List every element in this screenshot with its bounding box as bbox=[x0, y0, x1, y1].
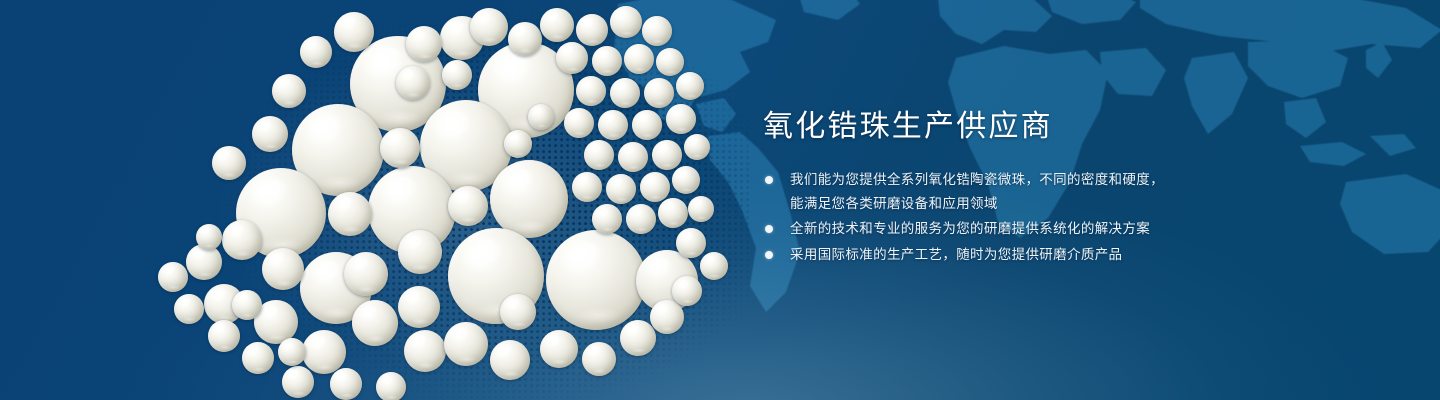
bead bbox=[528, 104, 554, 130]
zirconia-bead-cluster-image bbox=[0, 0, 760, 400]
bead bbox=[500, 294, 536, 330]
bead bbox=[330, 368, 362, 400]
bead bbox=[672, 276, 702, 306]
bead bbox=[300, 36, 332, 68]
bead bbox=[398, 230, 442, 274]
bead bbox=[598, 110, 628, 140]
bead bbox=[242, 342, 274, 374]
bead bbox=[490, 160, 568, 238]
bead bbox=[490, 340, 530, 380]
bead bbox=[334, 12, 374, 52]
bead bbox=[398, 286, 440, 328]
bead bbox=[252, 116, 288, 152]
bead bbox=[576, 14, 608, 46]
bead bbox=[656, 48, 684, 76]
page-title: 氧化锆珠生产供应商 bbox=[763, 108, 1233, 146]
list-item-line: 我们能为您提供全系列氧化锆陶瓷微珠，不同的密度和硬度， bbox=[790, 168, 1233, 192]
bead bbox=[684, 134, 710, 160]
bead bbox=[624, 44, 654, 74]
bead bbox=[582, 342, 616, 376]
bead bbox=[302, 330, 346, 374]
bead bbox=[186, 244, 222, 280]
bead bbox=[700, 252, 728, 280]
banner-content: 氧化锆珠生产供应商 我们能为您提供全系列氧化锆陶瓷微珠，不同的密度和硬度， 能满… bbox=[763, 108, 1233, 268]
bead bbox=[576, 76, 606, 106]
list-item-line: 能满足您各类研磨设备和应用领域 bbox=[790, 192, 1233, 216]
bead bbox=[584, 140, 614, 170]
bead bbox=[676, 228, 706, 258]
bead bbox=[508, 22, 542, 56]
bead bbox=[404, 330, 446, 372]
bead bbox=[344, 252, 388, 296]
bead bbox=[272, 74, 306, 108]
bead bbox=[564, 108, 594, 138]
bead bbox=[610, 78, 640, 108]
bead bbox=[222, 220, 262, 260]
bead bbox=[632, 110, 662, 140]
feature-list: 我们能为您提供全系列氧化锆陶瓷微珠，不同的密度和硬度， 能满足您各类研磨设备和应… bbox=[763, 168, 1233, 266]
bead bbox=[626, 204, 656, 234]
bead bbox=[158, 262, 188, 292]
bead bbox=[666, 104, 696, 134]
bead bbox=[618, 142, 648, 172]
bead bbox=[376, 372, 406, 400]
bead bbox=[592, 46, 622, 76]
bead bbox=[672, 166, 700, 194]
bead bbox=[676, 72, 704, 100]
bead bbox=[174, 294, 204, 324]
bead bbox=[470, 8, 508, 46]
bead bbox=[652, 140, 682, 170]
bead bbox=[212, 146, 246, 180]
list-item: 采用国际标准的生产工艺，随时为您提供研磨介质产品 bbox=[763, 243, 1233, 267]
list-item: 全新的技术和专业的服务为您的研磨提供系统化的解决方案 bbox=[763, 217, 1233, 241]
bullet-dot-icon bbox=[765, 225, 773, 233]
bead bbox=[442, 60, 472, 90]
bead bbox=[610, 6, 642, 38]
bead bbox=[380, 128, 420, 168]
bead bbox=[620, 320, 656, 356]
bead bbox=[606, 174, 636, 204]
bead bbox=[196, 224, 222, 250]
bead bbox=[572, 172, 602, 202]
bead bbox=[640, 172, 670, 202]
bead bbox=[396, 66, 430, 100]
bullet-dot-icon bbox=[765, 251, 773, 259]
bead bbox=[556, 42, 588, 74]
bead bbox=[352, 300, 398, 346]
bead bbox=[540, 8, 574, 42]
bead bbox=[504, 130, 532, 158]
bead bbox=[650, 300, 684, 334]
bead bbox=[406, 26, 442, 62]
bead bbox=[278, 338, 306, 366]
bead bbox=[644, 78, 674, 108]
bead bbox=[448, 186, 488, 226]
bullet-dot-icon bbox=[765, 176, 773, 184]
bead bbox=[642, 16, 672, 46]
bead bbox=[540, 330, 578, 368]
bead bbox=[592, 204, 622, 234]
bead bbox=[282, 366, 314, 398]
list-item-line: 全新的技术和专业的服务为您的研磨提供系统化的解决方案 bbox=[790, 217, 1233, 241]
bead bbox=[658, 198, 688, 228]
list-item: 我们能为您提供全系列氧化锆陶瓷微珠，不同的密度和硬度， 能满足您各类研磨设备和应… bbox=[763, 168, 1233, 215]
list-item-line: 采用国际标准的生产工艺，随时为您提供研磨介质产品 bbox=[790, 243, 1233, 267]
bead bbox=[546, 230, 646, 330]
bead bbox=[328, 192, 372, 236]
bead bbox=[262, 248, 304, 290]
hero-banner: 氧化锆珠生产供应商 我们能为您提供全系列氧化锆陶瓷微珠，不同的密度和硬度， 能满… bbox=[0, 0, 1440, 400]
bead bbox=[444, 322, 488, 366]
bead bbox=[232, 290, 262, 320]
bead bbox=[688, 196, 714, 222]
bead bbox=[208, 320, 240, 352]
